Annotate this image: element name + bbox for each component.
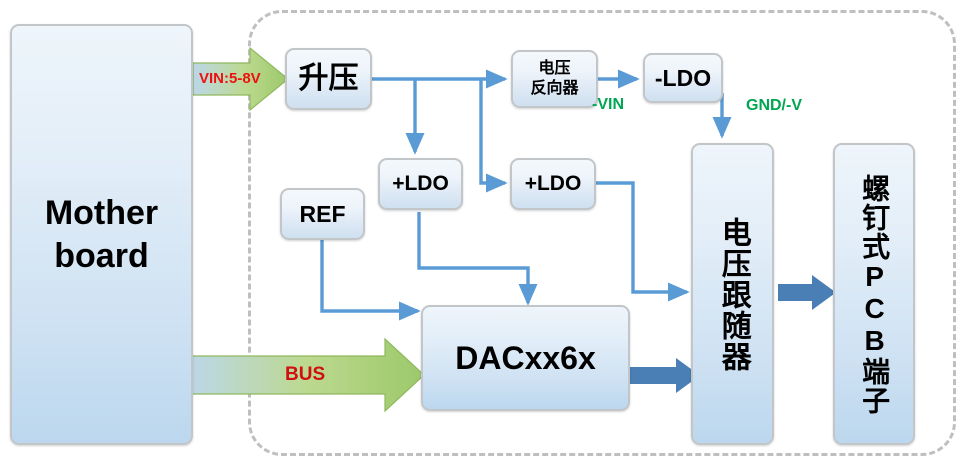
pos-ldo-right-label: +LDO bbox=[525, 173, 582, 196]
block-neg-ldo[interactable]: -LDO bbox=[643, 53, 723, 103]
label-vin: VIN:5-8V bbox=[199, 70, 261, 87]
voltage-inverter-label-line2: 反向器 bbox=[530, 79, 578, 99]
block-screw-terminal[interactable]: 螺钉式PCB端子 bbox=[833, 143, 915, 445]
neg-ldo-label: -LDO bbox=[655, 66, 711, 91]
voltage-inverter-label-line1: 电压 bbox=[530, 59, 578, 79]
diagram-canvas: Mother board 升压 电压 反向器 -LDO +LDO +LDO RE… bbox=[0, 0, 967, 471]
label-neg-vin: -VIN bbox=[592, 96, 624, 114]
boost-label: 升压 bbox=[299, 63, 359, 95]
pos-ldo-left-label: +LDO bbox=[392, 173, 449, 196]
dac-label: DACxx6x bbox=[455, 341, 596, 376]
arrow-follower-to-terminal bbox=[778, 275, 836, 310]
block-pos-ldo-left[interactable]: +LDO bbox=[378, 158, 463, 210]
block-pos-ldo-right[interactable]: +LDO bbox=[510, 158, 596, 210]
ref-label: REF bbox=[300, 202, 346, 227]
voltage-follower-label: 电压跟随器 bbox=[716, 217, 748, 372]
label-gnd-neg-v: GND/-V bbox=[746, 97, 802, 115]
label-bus: BUS bbox=[285, 364, 325, 386]
block-voltage-inverter[interactable]: 电压 反向器 bbox=[511, 50, 598, 108]
motherboard-label-line2: board bbox=[45, 235, 158, 278]
block-boost[interactable]: 升压 bbox=[285, 48, 372, 110]
screw-terminal-label: 螺钉式PCB端子 bbox=[859, 174, 889, 415]
block-voltage-follower[interactable]: 电压跟随器 bbox=[691, 143, 774, 445]
block-ref[interactable]: REF bbox=[280, 188, 365, 240]
arrow-dac-to-follower bbox=[630, 358, 700, 393]
motherboard-label-line1: Mother bbox=[45, 192, 158, 235]
block-motherboard[interactable]: Mother board bbox=[10, 24, 193, 445]
block-dac[interactable]: DACxx6x bbox=[421, 305, 630, 411]
